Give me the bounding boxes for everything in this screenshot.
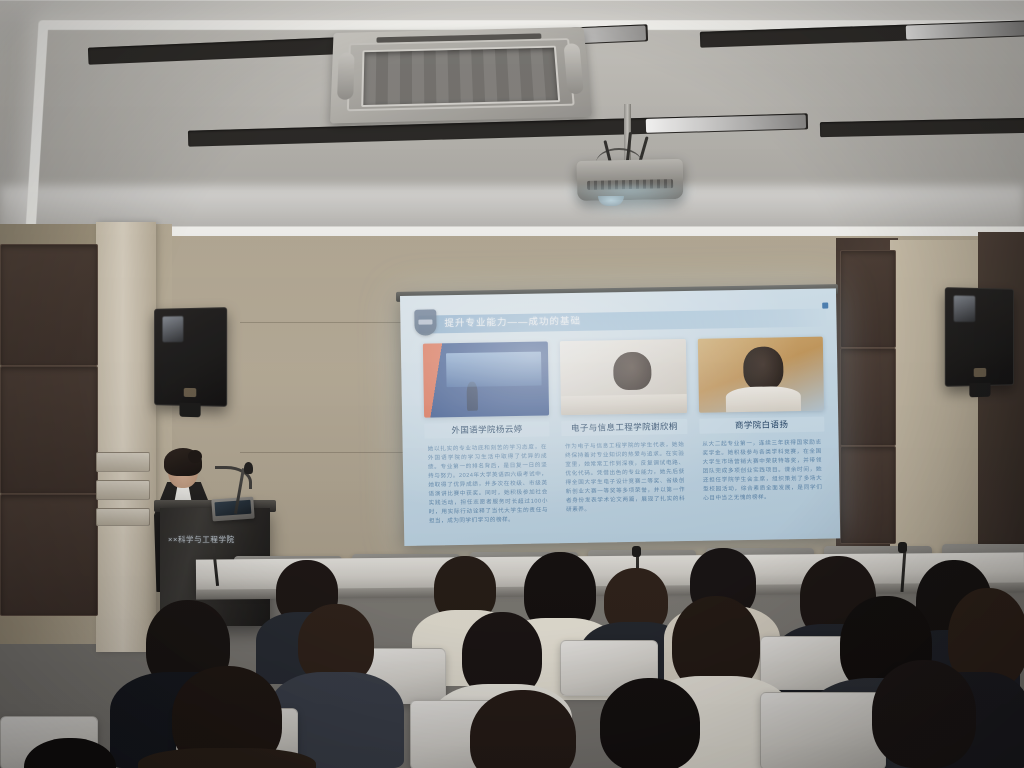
acoustic-panel-right-1 [840, 250, 896, 348]
acoustic-panel-left-1 [0, 244, 98, 366]
ceiling-cassette-air-conditioner [330, 27, 592, 124]
slide-column: 商学院白语扬 从大二起专业第一，连续三年获得国家励志奖学金。她积极参与各类学科竞… [697, 337, 826, 533]
presentation-slide: 提升专业能力——成功的基础 外国语学院杨云婷 她以扎实的专业功底和刻苦的学习态度… [400, 288, 840, 546]
slide-title: 提升专业能力——成功的基础 [444, 314, 581, 332]
podium-laptop [211, 497, 254, 522]
student-body-text-2: 作为电子与信息工程学院的学生代表，她始终保持着对专业知识的热爱与追求。在实验室里… [562, 439, 689, 535]
student-body-text-1: 她以扎实的专业功底和刻苦的学习态度，在外国语学院的学习生活中取得了优异的成绩。专… [425, 441, 552, 537]
student-photo-1 [423, 341, 550, 417]
university-crest-icon [414, 309, 436, 335]
desk-microphone-head-1-icon [632, 546, 641, 557]
slide-column: 外国语学院杨云婷 她以扎实的专业功底和刻苦的学习态度，在外国语学院的学习生活中取… [423, 341, 552, 537]
slide-corner-marker-icon [822, 303, 828, 309]
podium-microphone-head-icon [244, 462, 253, 474]
wall-plate-middle [96, 480, 150, 500]
presenter-hair-bun [188, 450, 202, 463]
acoustic-panel-right-2 [840, 348, 896, 446]
far-right-wall [978, 232, 1024, 572]
student-photo-3 [697, 337, 824, 413]
projection-screen: 提升专业能力——成功的基础 外国语学院杨云婷 她以扎实的专业功底和刻苦的学习态度… [400, 288, 840, 546]
student-caption-3: 商学院白语扬 [699, 417, 825, 434]
audience-head [470, 690, 576, 768]
wall-speaker-right [945, 287, 1014, 387]
acoustic-panel-left-3 [0, 494, 98, 616]
podium-sign-text: ××科学与工程学院 [168, 534, 264, 546]
slide-column: 电子与信息工程学院谢欣桐 作为电子与信息工程学院的学生代表，她始终保持着对专业知… [560, 339, 689, 535]
wall-plate-upper [96, 452, 150, 472]
student-caption-2: 电子与信息工程学院谢欣桐 [562, 419, 688, 436]
student-photo-2 [560, 339, 687, 415]
wall-plate-lower [96, 508, 150, 526]
desk-microphone-head-2-icon [898, 542, 907, 553]
student-caption-1: 外国语学院杨云婷 [424, 421, 550, 438]
audience-head [872, 660, 976, 768]
slide-columns: 外国语学院杨云婷 她以扎实的专业功底和刻苦的学习态度，在外国语学院的学习生活中取… [423, 337, 826, 538]
left-wall-column [96, 222, 156, 652]
auditorium-chair [760, 692, 886, 768]
student-body-text-3: 从大二起专业第一，连续三年获得国家励志奖学金。她积极参与各类学科竞赛，在全国大学… [699, 437, 826, 533]
acoustic-panel-right-3 [840, 446, 896, 544]
audience-torso [138, 748, 316, 768]
lecture-hall-photo: 提升专业能力——成功的基础 外国语学院杨云婷 她以扎实的专业功底和刻苦的学习态度… [0, 0, 1024, 768]
wall-speaker-left [154, 307, 227, 407]
projector-beam-glow [560, 186, 700, 220]
audience-head [600, 678, 700, 768]
acoustic-panel-left-2 [0, 366, 98, 494]
